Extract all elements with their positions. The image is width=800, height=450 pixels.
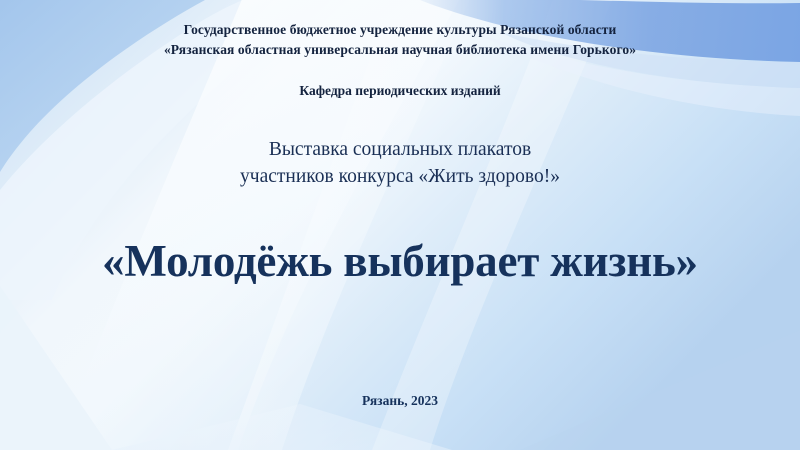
subtitle-block: Выставка социальных плакатов участников … [0, 136, 800, 190]
subtitle-line-2: участников конкурса «Жить здорово!» [0, 163, 800, 190]
presentation-slide: Государственное бюджетное учреждение кул… [0, 0, 800, 450]
slide-text-layer: Государственное бюджетное учреждение кул… [0, 0, 800, 450]
slide-main-title: «Молодёжь выбирает жизнь» [0, 234, 800, 288]
slide-footer-place-year: Рязань, 2023 [0, 392, 800, 410]
organization-block: Государственное бюджетное учреждение кул… [0, 20, 800, 60]
department-line: Кафедра периодических изданий [0, 81, 800, 101]
subtitle-line-1: Выставка социальных плакатов [0, 136, 800, 163]
organization-line-2: «Рязанская областная универсальная научн… [0, 40, 800, 60]
organization-line-1: Государственное бюджетное учреждение кул… [0, 20, 800, 40]
